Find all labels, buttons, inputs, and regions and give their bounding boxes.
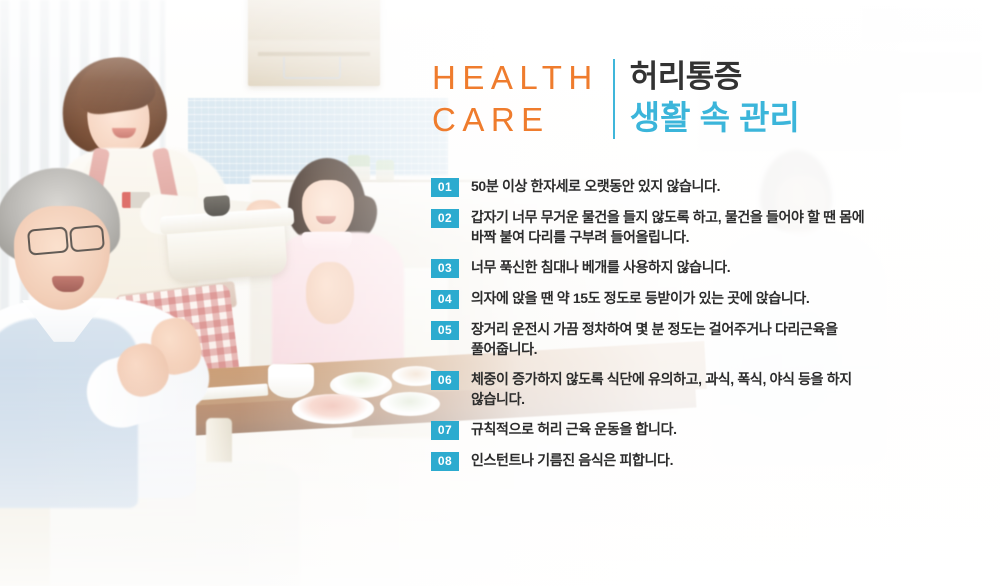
tip-text: 규칙적으로 허리 근육 운동을 합니다.	[471, 419, 677, 439]
tip-text: 장거리 운전시 가끔 정차하여 몇 분 정도는 걸어주거나 다리근육을풀어줍니다…	[471, 319, 979, 359]
page-title-primary: 허리통증	[630, 57, 800, 97]
brand-line-care: CARE	[432, 99, 599, 141]
tip-text-line: 50분 이상 한자세로 오랫동안 있지 않습니다.	[471, 176, 720, 196]
tip-item: 0150분 이상 한자세로 오랫동안 있지 않습니다.	[431, 176, 979, 197]
tip-text: 의자에 앉을 땐 약 15도 정도로 등받이가 있는 곳에 앉습니다.	[471, 288, 809, 308]
tip-item: 05장거리 운전시 가끔 정차하여 몇 분 정도는 걸어주거나 다리근육을풀어줍…	[431, 319, 979, 359]
banner-title-group: 허리통증 생활 속 관리	[615, 57, 800, 139]
tip-text: 체중이 증가하지 않도록 식단에 유의하고, 과식, 폭식, 야식 등을 하지않…	[471, 369, 979, 409]
banner-content: HEALTH CARE 허리통증 생활 속 관리 0150분 이상 한자세로 오…	[0, 0, 1000, 586]
tip-text-line: 바짝 붙여 다리를 구부려 들어올립니다.	[471, 227, 979, 247]
healthcare-banner: HEALTH CARE 허리통증 생활 속 관리 0150분 이상 한자세로 오…	[0, 0, 1000, 586]
tips-list: 0150분 이상 한자세로 오랫동안 있지 않습니다.02갑자기 너무 무거운 …	[431, 176, 979, 471]
tip-text: 50분 이상 한자세로 오랫동안 있지 않습니다.	[471, 176, 720, 196]
tip-item: 03너무 푹신한 침대나 베개를 사용하지 않습니다.	[431, 257, 979, 278]
banner-header: HEALTH CARE 허리통증 생활 속 관리	[432, 57, 800, 141]
tip-text: 너무 푹신한 침대나 베개를 사용하지 않습니다.	[471, 257, 730, 277]
tip-text-line: 갑자기 너무 무거운 물건을 들지 않도록 하고, 물건을 들어야 할 땐 몸에	[471, 207, 979, 227]
tip-text: 갑자기 너무 무거운 물건을 들지 않도록 하고, 물건을 들어야 할 땐 몸에…	[471, 207, 979, 247]
tip-number-badge: 02	[431, 209, 459, 228]
tip-item: 06체중이 증가하지 않도록 식단에 유의하고, 과식, 폭식, 야식 등을 하…	[431, 369, 979, 409]
tip-text: 인스턴트나 기름진 음식은 피합니다.	[471, 450, 673, 470]
brand-healthcare: HEALTH CARE	[432, 57, 613, 141]
tip-text-line: 않습니다.	[471, 389, 979, 409]
tip-item: 02갑자기 너무 무거운 물건을 들지 않도록 하고, 물건을 들어야 할 땐 …	[431, 207, 979, 247]
tip-text-line: 의자에 앉을 땐 약 15도 정도로 등받이가 있는 곳에 앉습니다.	[471, 288, 809, 308]
tip-text-line: 규칙적으로 허리 근육 운동을 합니다.	[471, 419, 677, 439]
tip-number-badge: 05	[431, 321, 459, 340]
tip-number-badge: 03	[431, 259, 459, 278]
tip-number-badge: 01	[431, 178, 459, 197]
tip-number-badge: 08	[431, 452, 459, 471]
tip-number-badge: 07	[431, 421, 459, 440]
tip-number-badge: 04	[431, 290, 459, 309]
tip-item: 07규칙적으로 허리 근육 운동을 합니다.	[431, 419, 979, 440]
tip-text-line: 장거리 운전시 가끔 정차하여 몇 분 정도는 걸어주거나 다리근육을	[471, 319, 979, 339]
tip-text-line: 인스턴트나 기름진 음식은 피합니다.	[471, 450, 673, 470]
brand-line-health: HEALTH	[432, 57, 599, 99]
tip-text-line: 풀어줍니다.	[471, 339, 979, 359]
page-title-secondary: 생활 속 관리	[630, 97, 800, 139]
tip-text-line: 너무 푹신한 침대나 베개를 사용하지 않습니다.	[471, 257, 730, 277]
tip-item: 04의자에 앉을 땐 약 15도 정도로 등받이가 있는 곳에 앉습니다.	[431, 288, 979, 309]
tip-item: 08인스턴트나 기름진 음식은 피합니다.	[431, 450, 979, 471]
tip-number-badge: 06	[431, 371, 459, 390]
tip-text-line: 체중이 증가하지 않도록 식단에 유의하고, 과식, 폭식, 야식 등을 하지	[471, 369, 979, 389]
